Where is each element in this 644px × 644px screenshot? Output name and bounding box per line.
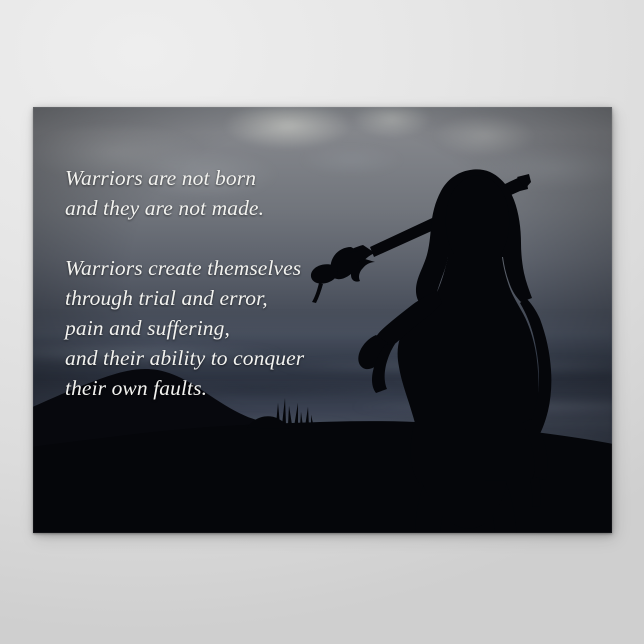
quote-line: Warriors are not born <box>65 163 395 193</box>
page-backdrop: Warriors are not born and they are not m… <box>0 0 644 644</box>
quote-line: their own faults. <box>65 373 395 403</box>
warriors-quote-poster[interactable]: Warriors are not born and they are not m… <box>33 107 612 533</box>
warrior-quote: Warriors are not born and they are not m… <box>65 163 395 403</box>
quote-line: Warriors create themselves <box>65 253 395 283</box>
quote-line: and they are not made. <box>65 193 395 223</box>
quote-stanza-gap <box>65 223 395 253</box>
quote-line: through trial and error, <box>65 283 395 313</box>
quote-line: pain and suffering, <box>65 313 395 343</box>
quote-line: and their ability to conquer <box>65 343 395 373</box>
